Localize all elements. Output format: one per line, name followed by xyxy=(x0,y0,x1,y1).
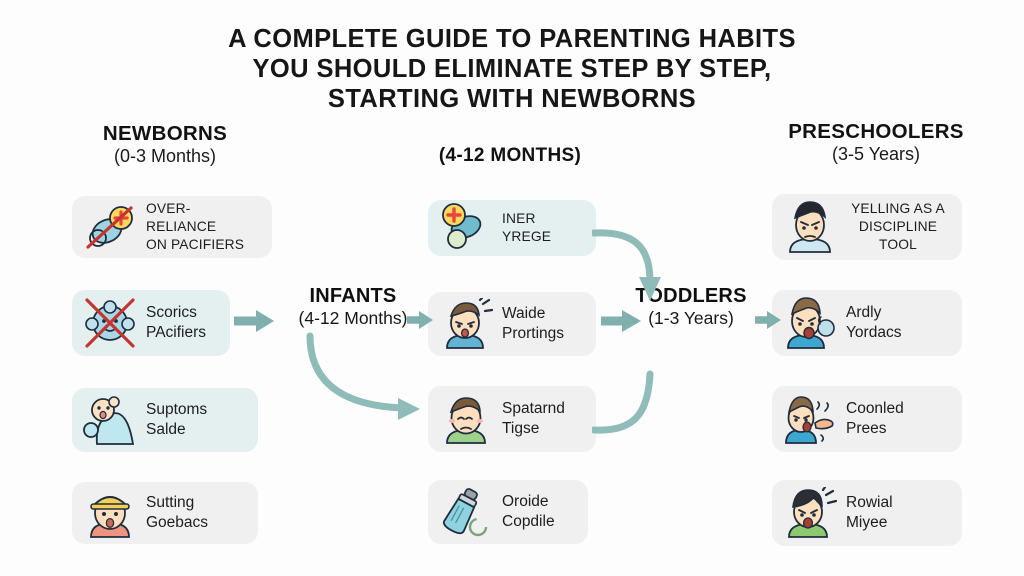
card-label: Spatarnd Tigse xyxy=(502,399,584,438)
infographic-title: A COMPLETE GUIDE TO PARENTING HABITS YOU… xyxy=(0,24,1024,114)
column-heading-newborns-main: NEWBORNS xyxy=(35,122,295,146)
column-heading-newborns: NEWBORNS (0-3 Months) xyxy=(35,122,295,167)
stage-label-infants-main: INFANTS xyxy=(278,285,428,308)
stage-label-infants: INFANTS (4-12 Months) xyxy=(278,285,428,328)
column-heading-infants-main: (4-12 MONTHS) xyxy=(392,145,628,167)
card-label: Ardly Yordacs xyxy=(846,303,950,342)
card-label: Rowial Miyee xyxy=(846,493,950,532)
swaddled-baby-icon xyxy=(82,392,138,448)
arrow-newborns-to-infants xyxy=(232,305,278,337)
title-line-2: YOU SHOULD ELIMINATE STEP BY STEP, xyxy=(0,54,1024,84)
shouting-man-icon xyxy=(782,295,838,351)
card-coonled-prees[interactable]: Coonled Prees xyxy=(772,386,962,452)
card-suptoms-salde[interactable]: Suptoms Salde xyxy=(72,388,258,452)
sad-boy-icon xyxy=(438,391,494,447)
title-line-3: STARTING WITH NEWBORNS xyxy=(0,84,1024,114)
card-oroide-copdile[interactable]: Oroide Copdile xyxy=(428,480,588,544)
shouting-boy-icon xyxy=(782,391,838,447)
stage-label-toddlers-sub: (1-3 Years) xyxy=(616,308,766,328)
card-label: INER YREGE xyxy=(502,210,584,246)
column-heading-newborns-sub: (0-3 Months) xyxy=(35,146,295,167)
card-iner-yrege[interactable]: INER YREGE xyxy=(428,200,596,256)
card-over-reliance-on-pacifiers[interactable]: OVER-RELIANCE ON PACIFIERS xyxy=(72,196,272,258)
curved-arrow-infants-to-spatarnd xyxy=(300,330,435,430)
baby-crossed-out-icon xyxy=(82,295,138,351)
card-label: OVER-RELIANCE ON PACIFIERS xyxy=(146,200,260,254)
column-heading-preschoolers-sub: (3-5 Years) xyxy=(740,144,1012,165)
card-ardly-yordacs[interactable]: Ardly Yordacs xyxy=(772,290,962,356)
stage-label-toddlers-main: TODDLERS xyxy=(616,285,766,308)
angry-boy-icon xyxy=(438,296,494,352)
angry-child-icon xyxy=(782,485,838,541)
stage-label-infants-sub: (4-12 Months) xyxy=(278,308,428,328)
card-label: Scorics PAcifiers xyxy=(146,303,218,342)
pacifier-icon xyxy=(438,200,494,256)
stern-man-icon xyxy=(782,199,838,255)
card-scorics-pacifiers[interactable]: Scorics PAcifiers xyxy=(72,290,230,356)
infographic-canvas: A COMPLETE GUIDE TO PARENTING HABITS YOU… xyxy=(0,0,1024,576)
card-spatarnd-tigse[interactable]: Spatarnd Tigse xyxy=(428,386,596,452)
card-rowial-miyee[interactable]: Rowial Miyee xyxy=(772,480,962,546)
column-heading-preschoolers-main: PRESCHOOLERS xyxy=(740,120,1012,144)
column-heading-preschoolers: PRESCHOOLERS (3-5 Years) xyxy=(740,120,1012,165)
stage-label-toddlers: TODDLERS (1-3 Years) xyxy=(616,285,766,328)
child-yellow-hat-icon xyxy=(82,485,138,541)
card-label: Suptoms Salde xyxy=(146,400,246,439)
card-label: Sutting Goebacs xyxy=(146,493,246,532)
card-waide-prortings[interactable]: Waide Prortings xyxy=(428,292,596,356)
card-label: Oroide Copdile xyxy=(502,492,576,531)
card-label: Coonled Prees xyxy=(846,399,950,438)
title-line-1: A COMPLETE GUIDE TO PARENTING HABITS xyxy=(0,24,1024,54)
pacifier-crossed-out-icon xyxy=(82,199,138,255)
card-label: YELLING AS A DISCIPLINE TOOL xyxy=(846,200,950,254)
column-heading-infants: (4-12 MONTHS) xyxy=(392,145,628,167)
card-yelling-as-a-discipline-tool[interactable]: YELLING AS A DISCIPLINE TOOL xyxy=(772,194,962,260)
card-label: Waide Prortings xyxy=(502,304,584,343)
curved-arrow-spatarnd-to-toddlers xyxy=(592,352,682,442)
card-sutting-goebacs[interactable]: Sutting Goebacs xyxy=(72,482,258,544)
baby-bottle-icon xyxy=(438,484,494,540)
